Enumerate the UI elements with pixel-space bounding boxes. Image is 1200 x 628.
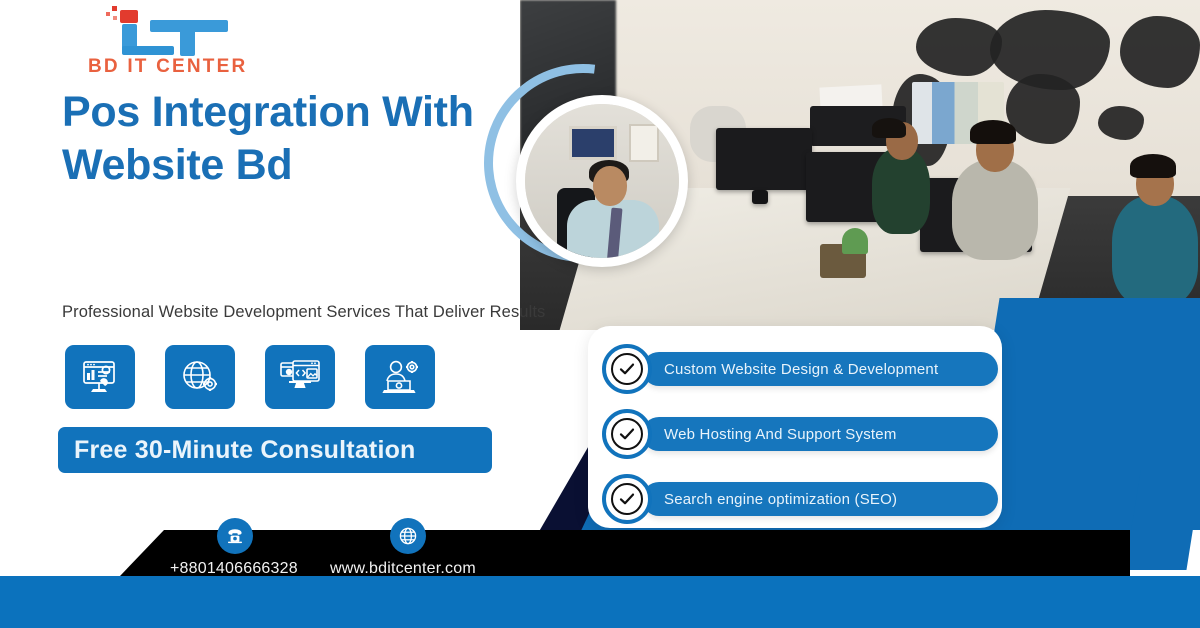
phone-number[interactable]: +8801406666328 bbox=[170, 560, 298, 578]
globe-gear-icon[interactable] bbox=[165, 345, 235, 409]
cta-label: Free 30-Minute Consultation bbox=[74, 436, 416, 465]
marketing-banner: BD IT CENTER Pos Integration With Websit… bbox=[0, 0, 1200, 628]
checklist-pill: Web Hosting And Support System bbox=[642, 417, 998, 451]
consultation-cta-button[interactable]: Free 30-Minute Consultation bbox=[58, 427, 492, 473]
check-circle-icon bbox=[602, 474, 652, 524]
person-laptop-gear-icon[interactable] bbox=[365, 345, 435, 409]
globe-icon[interactable] bbox=[390, 518, 426, 554]
checklist-label: Search engine optimization (SEO) bbox=[664, 491, 897, 508]
it-logo-icon bbox=[106, 6, 276, 56]
subtitle: Professional Website Development Service… bbox=[62, 303, 582, 322]
checklist-pill: Custom Website Design & Development bbox=[642, 352, 998, 386]
page-title: Pos Integration With Website Bd bbox=[62, 86, 532, 193]
blue-accent-shape-corner bbox=[1131, 470, 1200, 530]
website-url[interactable]: www.bditcenter.com bbox=[330, 560, 476, 578]
list-item[interactable]: Web Hosting And Support System bbox=[602, 409, 998, 459]
brand-logo[interactable]: BD IT CENTER bbox=[88, 6, 278, 82]
checklist-label: Custom Website Design & Development bbox=[664, 361, 938, 378]
checklist-pill: Search engine optimization (SEO) bbox=[642, 482, 998, 516]
list-item[interactable]: Custom Website Design & Development bbox=[602, 344, 998, 394]
contact-info: +8801406666328 www.bditcenter.com bbox=[150, 518, 670, 598]
checklist-card: Custom Website Design & Development Web … bbox=[588, 326, 1002, 528]
feature-icons bbox=[65, 345, 435, 409]
check-circle-icon bbox=[602, 409, 652, 459]
check-circle-icon bbox=[602, 344, 652, 394]
web-design-screens-icon[interactable] bbox=[265, 345, 335, 409]
brand-name: BD IT CENTER bbox=[88, 56, 278, 78]
list-item[interactable]: Search engine optimization (SEO) bbox=[602, 474, 998, 524]
telephone-icon[interactable] bbox=[217, 518, 253, 554]
portrait-photo bbox=[516, 95, 688, 267]
monitor-analytics-wrench-icon[interactable] bbox=[65, 345, 135, 409]
checklist-label: Web Hosting And Support System bbox=[664, 426, 897, 443]
